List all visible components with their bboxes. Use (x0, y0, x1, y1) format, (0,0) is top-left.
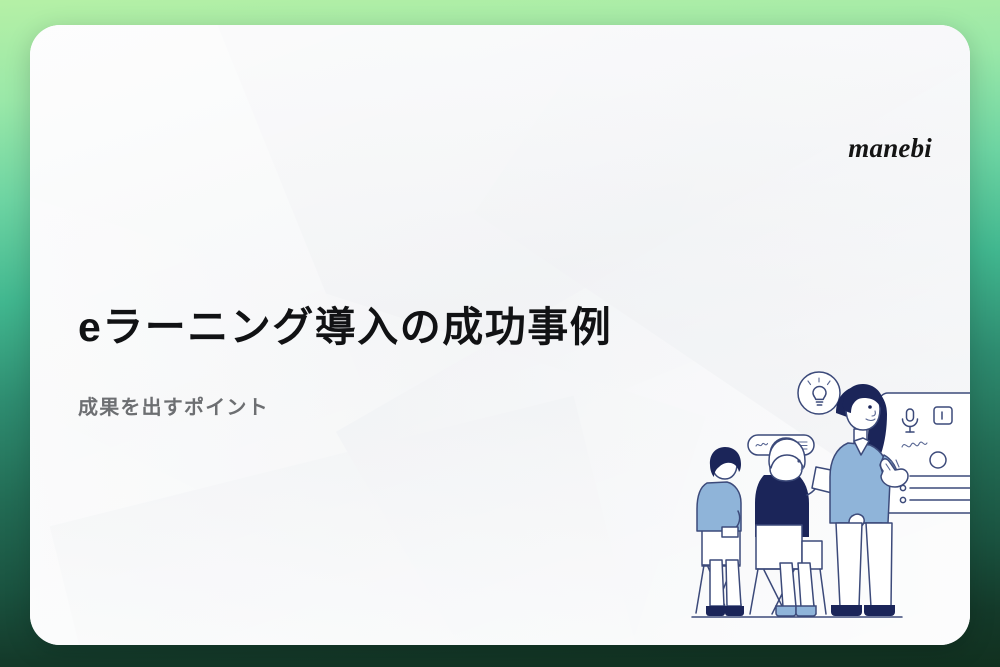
page-subtitle: 成果を出すポイント (78, 391, 269, 420)
brand-logo: manebi (848, 133, 932, 164)
seated-attendee-back (750, 438, 836, 616)
training-seminar-illustration: .ln { fill:none; stroke:#3c4a7a; stroke-… (670, 355, 970, 645)
seated-attendee-front (696, 447, 744, 616)
lightbulb-idea-icon (798, 372, 840, 414)
content-card: manebi eラーニング導入の成功事例 成果を出すポイント .ln { fil… (30, 25, 970, 645)
slide-canvas: manebi eラーニング導入の成功事例 成果を出すポイント .ln { fil… (0, 0, 1000, 667)
whiteboard-panel (879, 393, 970, 513)
page-title: eラーニング導入の成功事例 (78, 293, 612, 353)
